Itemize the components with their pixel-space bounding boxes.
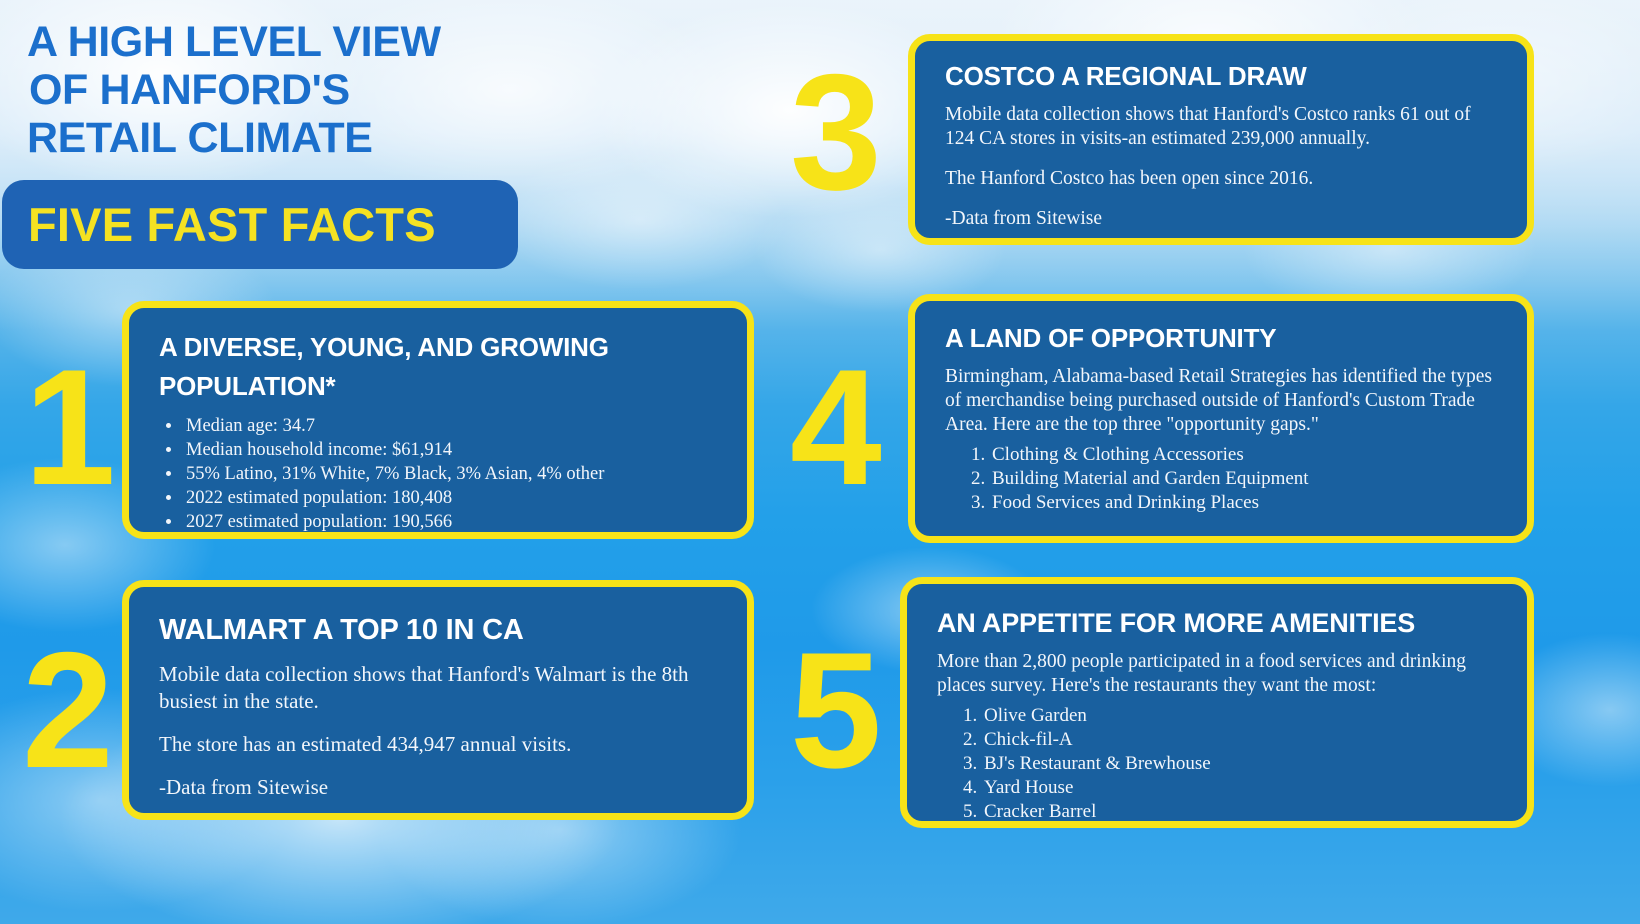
data-source-credit: -Data from Sitewise bbox=[159, 774, 721, 801]
list-item: Median household income: $61,914 bbox=[183, 438, 721, 462]
page-title: A HIGH LEVEL VIEW OF HANFORD'S RETAIL CL… bbox=[27, 18, 567, 162]
fact-card-population: A DIVERSE, YOUNG, AND GROWING POPULATION… bbox=[122, 301, 754, 539]
body-paragraph: The Hanford Costco has been open since 2… bbox=[945, 167, 1501, 191]
list-item: Building Material and Garden Equipment bbox=[990, 467, 1507, 491]
step-numeral-2: 2 bbox=[22, 628, 110, 793]
fact-card-amenities: AN APPETITE FOR MORE AMENITIES More than… bbox=[900, 577, 1534, 828]
body-paragraph: Mobile data collection shows that Hanfor… bbox=[159, 661, 721, 715]
fact-card-body: Mobile data collection shows that Hanfor… bbox=[159, 661, 721, 801]
list-item: Median age: 34.7 bbox=[183, 414, 721, 438]
five-fast-facts-banner: FIVE FAST FACTS bbox=[2, 180, 518, 269]
infographic-poster: A HIGH LEVEL VIEW OF HANFORD'S RETAIL CL… bbox=[0, 0, 1640, 924]
fact-card-costco: COSTCO A REGIONAL DRAW Mobile data colle… bbox=[908, 34, 1534, 245]
body-paragraph: More than 2,800 people participated in a… bbox=[937, 650, 1509, 698]
list-item: Chick-fil-A bbox=[982, 728, 1509, 752]
body-paragraph: Birmingham, Alabama-based Retail Strateg… bbox=[945, 365, 1507, 437]
banner-label: FIVE FAST FACTS bbox=[2, 197, 436, 252]
step-numeral-4: 4 bbox=[790, 345, 878, 510]
opportunity-gaps-list: Clothing & Clothing Accessories Building… bbox=[945, 443, 1507, 515]
list-item: Yard House bbox=[982, 776, 1509, 800]
list-item: Food Services and Drinking Places bbox=[990, 491, 1507, 515]
body-paragraph: The store has an estimated 434,947 annua… bbox=[159, 731, 721, 758]
fact-card-walmart: WALMART A TOP 10 IN CA Mobile data colle… bbox=[122, 580, 754, 820]
population-stats-list: Median age: 34.7 Median household income… bbox=[159, 414, 721, 534]
step-numeral-3: 3 bbox=[790, 50, 878, 215]
fact-card-title: A DIVERSE, YOUNG, AND GROWING POPULATION… bbox=[159, 328, 721, 406]
fact-card-body: Birmingham, Alabama-based Retail Strateg… bbox=[945, 365, 1507, 437]
fact-card-title: A LAND OF OPPORTUNITY bbox=[945, 321, 1507, 355]
page-title-line-3: RETAIL CLIMATE bbox=[27, 114, 567, 162]
fact-card-title: WALMART A TOP 10 IN CA bbox=[159, 611, 721, 649]
step-numeral-1: 1 bbox=[24, 345, 112, 510]
requested-restaurants-list: Olive Garden Chick-fil-A BJ's Restaurant… bbox=[937, 704, 1509, 824]
data-source-credit: -Data from Sitewise bbox=[945, 207, 1501, 231]
fact-card-opportunity: A LAND OF OPPORTUNITY Birmingham, Alabam… bbox=[908, 294, 1534, 543]
fact-card-body: Mobile data collection shows that Hanfor… bbox=[945, 103, 1501, 231]
list-item: 55% Latino, 31% White, 7% Black, 3% Asia… bbox=[183, 462, 721, 486]
fact-card-title: COSTCO A REGIONAL DRAW bbox=[945, 59, 1501, 93]
body-paragraph: Mobile data collection shows that Hanfor… bbox=[945, 103, 1501, 151]
list-item: BJ's Restaurant & Brewhouse bbox=[982, 752, 1509, 776]
list-item: Clothing & Clothing Accessories bbox=[990, 443, 1507, 467]
page-title-line-2: OF HANFORD'S bbox=[27, 66, 567, 114]
fact-card-title: AN APPETITE FOR MORE AMENITIES bbox=[937, 606, 1509, 640]
list-item: Olive Garden bbox=[982, 704, 1509, 728]
page-title-line-1: A HIGH LEVEL VIEW bbox=[27, 18, 567, 66]
fact-card-body: More than 2,800 people participated in a… bbox=[937, 650, 1509, 698]
list-item: 2022 estimated population: 180,408 bbox=[183, 486, 721, 510]
list-item: Cracker Barrel bbox=[982, 800, 1509, 824]
list-item: 2027 estimated population: 190,566 bbox=[183, 510, 721, 534]
step-numeral-5: 5 bbox=[790, 628, 878, 793]
